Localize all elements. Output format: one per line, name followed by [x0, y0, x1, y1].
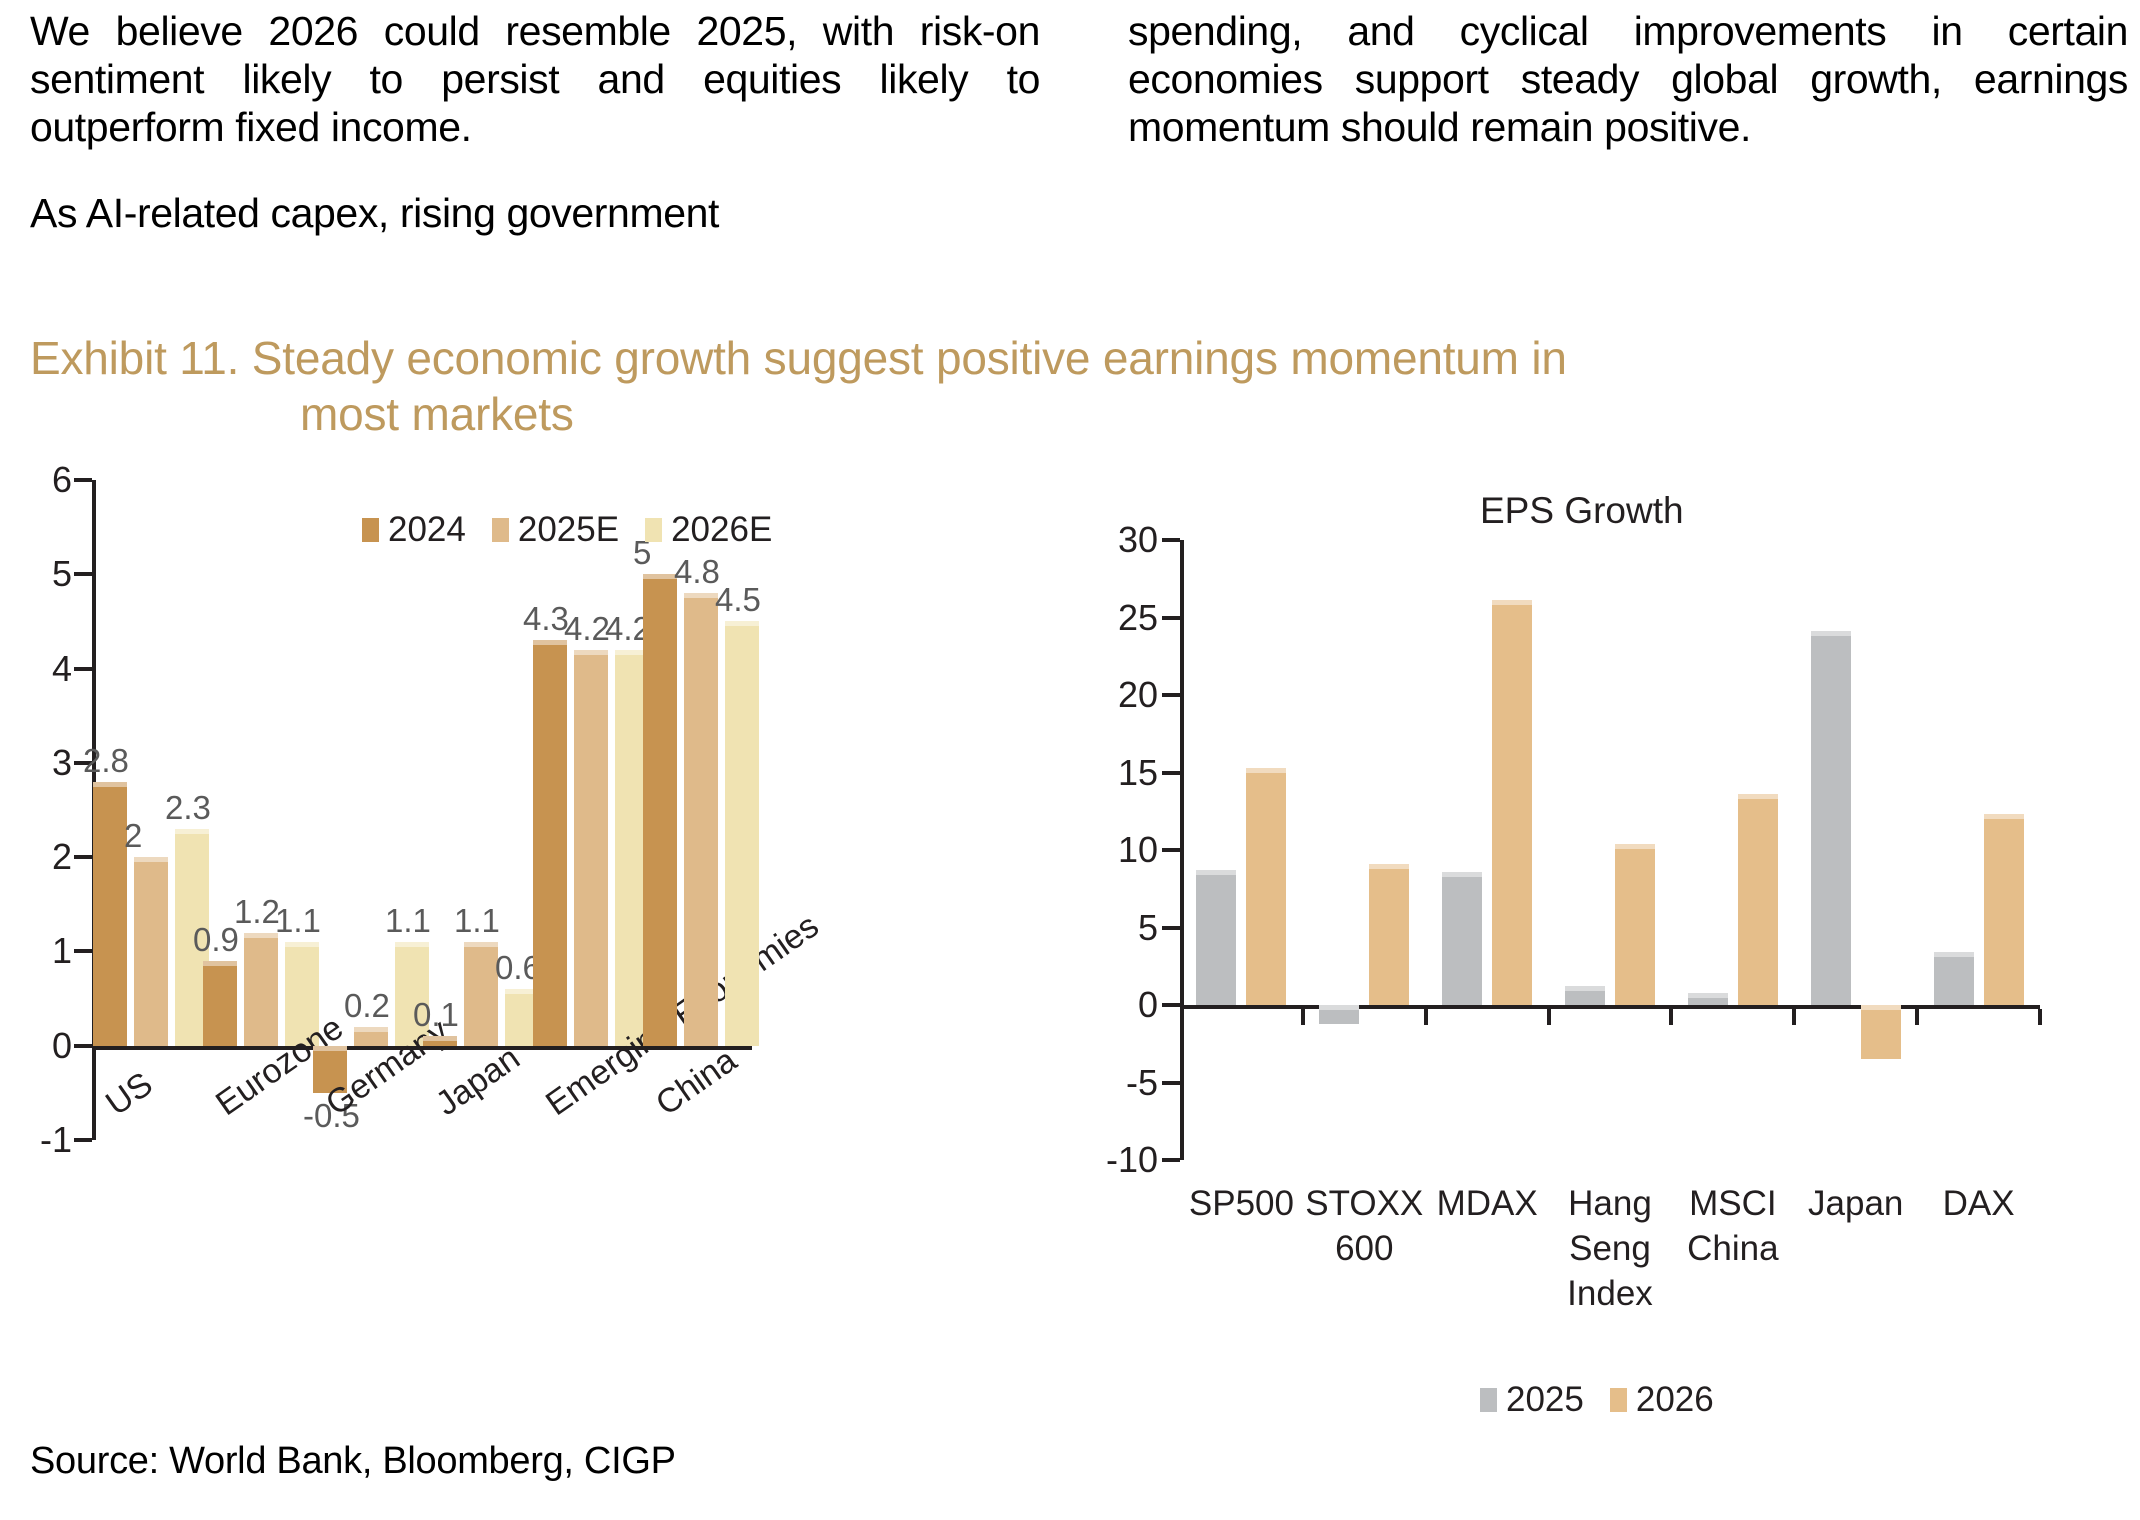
bar-highlight	[1861, 1005, 1901, 1010]
bar	[354, 1027, 388, 1046]
x-axis-label-line: Index	[1567, 1274, 1653, 1313]
x-axis-label-line: MDAX	[1437, 1184, 1538, 1223]
y-tick	[1162, 848, 1180, 852]
y-tick	[74, 1138, 92, 1142]
y-tick-label: 15	[1080, 752, 1158, 794]
x-axis-label-line: China	[1687, 1229, 1778, 1268]
bar-highlight	[1934, 952, 1974, 957]
bar-highlight	[1492, 600, 1532, 605]
x-axis-label-line: Hang	[1568, 1184, 1652, 1223]
bar	[574, 650, 608, 1046]
bar	[725, 621, 759, 1045]
bar-highlight	[533, 640, 567, 645]
bar	[1246, 768, 1286, 1005]
bar-highlight	[134, 857, 168, 862]
y-tick	[1162, 616, 1180, 620]
y-tick-label: 6	[2, 459, 72, 501]
x-axis-label: MSCIChina	[1671, 1182, 1794, 1272]
x-axis-label-line: SP500	[1189, 1184, 1294, 1223]
exhibit-title-line-1: Exhibit 11. Steady economic growth sugge…	[30, 332, 1567, 384]
bar-value-label: 0.2	[344, 987, 390, 1025]
bar	[464, 942, 498, 1046]
bar	[643, 574, 677, 1045]
y-tick-label: 1	[2, 930, 72, 972]
bar-value-label: 4.5	[715, 581, 761, 619]
x-axis-label-line: STOXX	[1305, 1184, 1423, 1223]
y-tick	[1162, 1081, 1180, 1085]
bar-value-label: 4.3	[523, 600, 569, 638]
bar	[203, 961, 237, 1046]
bar-highlight	[1738, 794, 1778, 799]
gdp-growth-chart: 6543210-12.822.3US0.91.21.1Eurozone-0.50…	[0, 470, 1050, 1430]
body-text-left-column: We believe 2026 could resemble 2025, wit…	[30, 8, 1040, 238]
bar-highlight	[1246, 768, 1286, 773]
bar	[1934, 952, 1974, 1005]
bar	[1565, 986, 1605, 1005]
bar-highlight	[313, 1046, 347, 1051]
y-tick-label: 25	[1080, 597, 1158, 639]
x-axis-label: STOXX600	[1303, 1182, 1426, 1272]
x-tick	[1915, 1009, 1919, 1025]
body-text-right-column: spending, and cyclical improvements in c…	[1128, 8, 2128, 152]
bar	[1984, 814, 2024, 1005]
bar	[533, 640, 567, 1045]
bar	[1615, 844, 1655, 1005]
bar-highlight	[93, 782, 127, 787]
x-axis-label: MDAX	[1426, 1182, 1549, 1227]
bar-value-label: 2.8	[83, 742, 129, 780]
y-tick	[74, 1044, 92, 1048]
y-axis-line	[1180, 540, 1184, 1160]
bar	[1738, 794, 1778, 1005]
paragraph-right-1: spending, and cyclical improvements in c…	[1128, 8, 2128, 152]
y-tick-label: 5	[1080, 907, 1158, 949]
y-tick-label: 0	[2, 1025, 72, 1067]
y-tick-label: 2	[2, 836, 72, 878]
bar-highlight	[1196, 870, 1236, 875]
legend-swatch	[492, 518, 509, 542]
legend-label: 2025E	[518, 510, 619, 550]
y-tick	[1162, 538, 1180, 542]
x-axis-label: US	[99, 1065, 160, 1124]
bar-value-label: 4.8	[674, 553, 720, 591]
legend-item: 2026	[1610, 1380, 1714, 1420]
legend-swatch	[1480, 1388, 1497, 1412]
x-tick	[2038, 1009, 2042, 1025]
y-tick-label: -10	[1080, 1139, 1158, 1181]
y-tick-label: 4	[2, 648, 72, 690]
bar-highlight	[1984, 814, 2024, 819]
bar-highlight	[464, 942, 498, 947]
bar	[244, 933, 278, 1046]
y-tick-label: 0	[1080, 984, 1158, 1026]
chart-legend: 20242025E2026E	[362, 510, 772, 550]
x-tick	[1547, 1009, 1551, 1025]
legend-swatch	[362, 518, 379, 542]
x-tick	[1424, 1009, 1428, 1025]
x-axis-label: China	[649, 1041, 744, 1124]
bar-value-label: 0.9	[193, 921, 239, 959]
paragraph-left-1: We believe 2026 could resemble 2025, wit…	[30, 8, 1040, 152]
y-tick-label: 5	[2, 553, 72, 595]
paragraph-left-2: As AI-related capex, rising government	[30, 190, 1040, 238]
x-axis-zero-line	[1180, 1005, 2040, 1009]
y-tick-label: 3	[2, 742, 72, 784]
y-tick-label: -5	[1080, 1062, 1158, 1104]
x-axis-label-line: DAX	[1943, 1184, 2015, 1223]
legend-item: 2024	[362, 510, 466, 550]
bar-highlight	[285, 942, 319, 947]
chart-title: EPS Growth	[1480, 490, 1684, 532]
bar	[93, 782, 127, 1046]
legend-item: 2025E	[492, 510, 619, 550]
x-axis-label: Japan	[1794, 1182, 1917, 1227]
bar-highlight	[244, 933, 278, 938]
exhibit-title-line-2: most markets	[30, 386, 2070, 442]
bar	[423, 1036, 457, 1045]
y-tick-label: 20	[1080, 674, 1158, 716]
bar-highlight	[1615, 844, 1655, 849]
y-tick-label: 30	[1080, 519, 1158, 561]
bar-highlight	[1369, 864, 1409, 869]
bar	[684, 593, 718, 1046]
x-axis-label-line: Japan	[1808, 1184, 1903, 1223]
bar	[1196, 870, 1236, 1005]
bar-highlight	[1688, 993, 1728, 998]
legend-label: 2024	[388, 510, 466, 550]
y-tick	[74, 949, 92, 953]
bar-highlight	[203, 961, 237, 966]
bar	[1861, 1005, 1901, 1059]
bar-value-label: 0.1	[413, 996, 459, 1034]
chart-legend: 20252026	[1480, 1380, 1714, 1420]
legend-swatch	[645, 518, 662, 542]
legend-label: 2025	[1506, 1380, 1584, 1420]
bar-highlight	[354, 1027, 388, 1032]
exhibit-page: We believe 2026 could resemble 2025, wit…	[0, 0, 2140, 1520]
bar-highlight	[423, 1036, 457, 1041]
source-note: Source: World Bank, Bloomberg, CIGP	[30, 1440, 676, 1483]
x-axis-label: DAX	[1917, 1182, 2040, 1227]
y-tick	[1162, 926, 1180, 930]
y-tick	[1162, 1003, 1180, 1007]
bar-value-label: 1.1	[275, 902, 321, 940]
bar-highlight	[175, 829, 209, 834]
bar-value-label: 1.1	[385, 902, 431, 940]
x-tick	[1669, 1009, 1673, 1025]
y-tick	[1162, 693, 1180, 697]
bar-value-label: 2.3	[165, 789, 211, 827]
bar	[1811, 631, 1851, 1005]
bar	[1688, 993, 1728, 1005]
bar-value-label: 2	[124, 817, 142, 855]
exhibit-title: Exhibit 11. Steady economic growth sugge…	[30, 330, 2070, 442]
bar-highlight	[643, 574, 677, 579]
y-tick-label: -1	[2, 1119, 72, 1161]
x-tick	[1792, 1009, 1796, 1025]
y-tick	[74, 667, 92, 671]
y-tick-label: 10	[1080, 829, 1158, 871]
y-tick	[74, 572, 92, 576]
bar-highlight	[725, 621, 759, 626]
bar-value-label: 1.2	[234, 893, 280, 931]
bar-highlight	[395, 942, 429, 947]
x-axis-label: SP500	[1180, 1182, 1303, 1227]
eps-growth-chart: EPS Growth302520151050-5-10SP500STOXX600…	[1040, 490, 2140, 1440]
x-axis-label-line: 600	[1335, 1229, 1393, 1268]
legend-label: 2026	[1636, 1380, 1714, 1420]
bar-highlight	[1442, 872, 1482, 877]
bar	[1492, 600, 1532, 1005]
bar-highlight	[574, 650, 608, 655]
bar	[1319, 1005, 1359, 1024]
x-axis-label-line: Seng	[1569, 1229, 1651, 1268]
bar-highlight	[1565, 986, 1605, 991]
y-tick	[74, 855, 92, 859]
bar-highlight	[684, 593, 718, 598]
y-tick	[1162, 771, 1180, 775]
legend-item: 2025	[1480, 1380, 1584, 1420]
x-tick	[1301, 1009, 1305, 1025]
bar	[134, 857, 168, 1046]
bar	[1369, 864, 1409, 1005]
y-tick	[74, 478, 92, 482]
x-axis-label-line: MSCI	[1689, 1184, 1777, 1223]
bar	[1442, 872, 1482, 1005]
legend-swatch	[1610, 1388, 1627, 1412]
bar-value-label: 1.1	[454, 902, 500, 940]
legend-item: 2026E	[645, 510, 772, 550]
legend-label: 2026E	[671, 510, 772, 550]
bar-highlight	[1319, 1005, 1359, 1010]
x-axis-label: HangSengIndex	[1549, 1182, 1672, 1316]
y-tick	[1162, 1158, 1180, 1162]
bar-value-label: 4.2	[564, 610, 610, 648]
bar-highlight	[1811, 631, 1851, 636]
